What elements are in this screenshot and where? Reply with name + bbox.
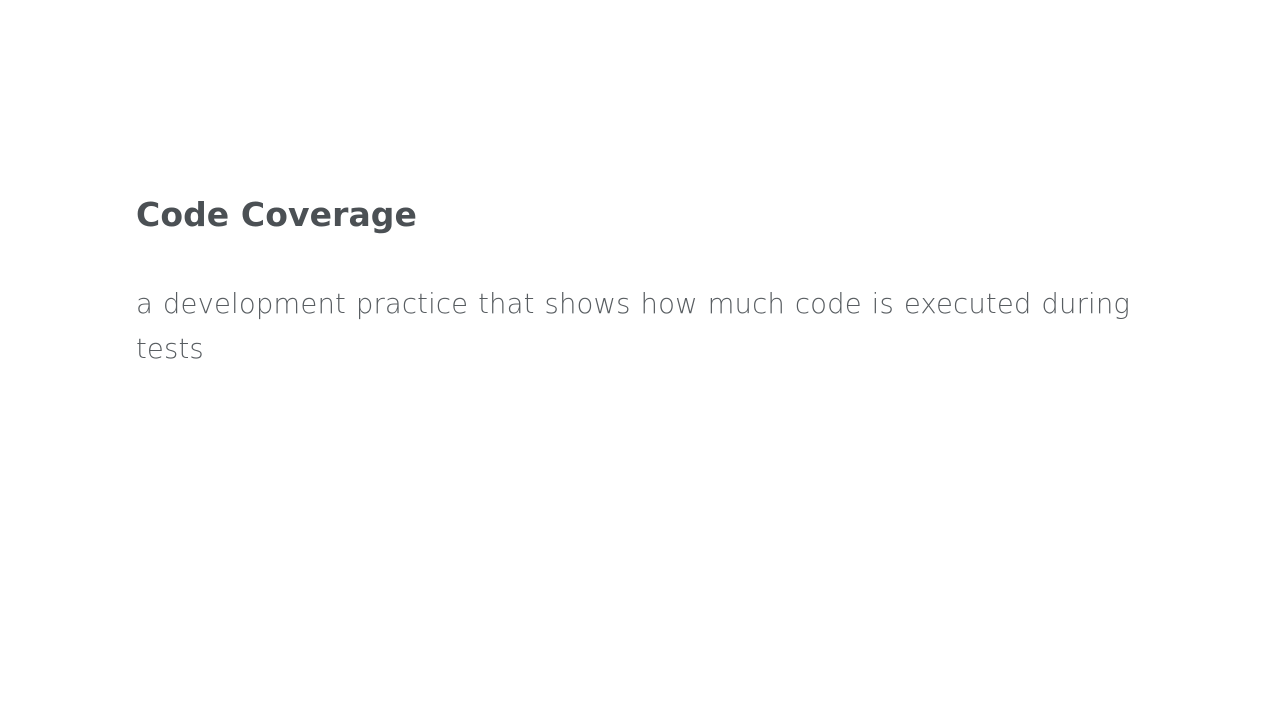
slide-content-block: Code Coverage a development practice tha…	[136, 192, 1152, 372]
page-title: Code Coverage	[136, 192, 1152, 238]
slide-canvas: Code Coverage a development practice tha…	[0, 0, 1280, 720]
slide-description-text: a development practice that shows how mu…	[136, 238, 1146, 372]
